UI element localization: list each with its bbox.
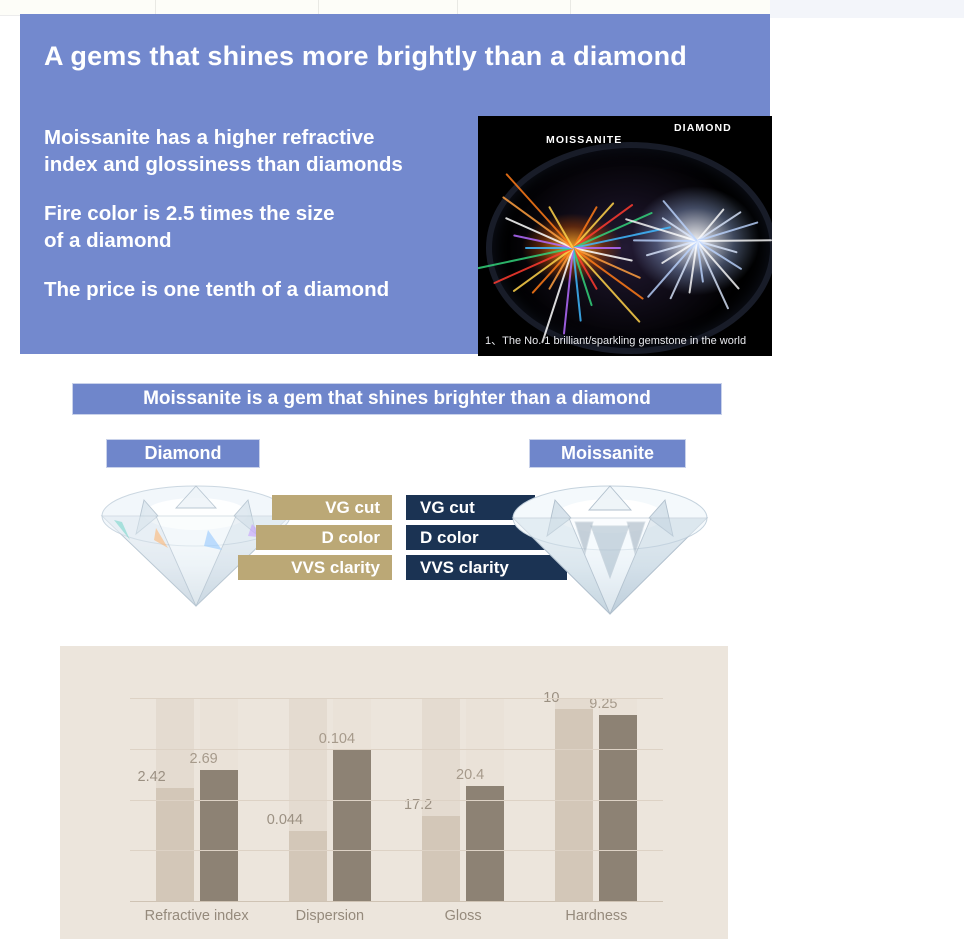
section-heading-bar: Moissanite is a gem that shines brighter…: [72, 383, 722, 415]
chart-gridline: [130, 901, 663, 902]
fire-comparison-photo: MOISSANITE DIAMOND 1、The No. 1 brilliant…: [478, 116, 772, 356]
chart-x-label: Hardness: [530, 904, 663, 932]
chart-bar-fill: [156, 788, 194, 901]
chart-bar-value-label: 2.69: [190, 751, 218, 767]
gem-header-diamond-label: Diamond: [144, 443, 221, 464]
chart-bar-fill: [289, 831, 327, 901]
chart-bar-value-label: 0.044: [267, 812, 303, 828]
photo-ray: [633, 239, 697, 242]
chart-gridline: [130, 850, 663, 851]
chart-gridline: [130, 698, 663, 699]
comparison-bar-chart: 2.422.690.0440.10417.220.4109.25 Refract…: [60, 646, 728, 939]
chart-bar-fill: [599, 715, 637, 901]
chart-plot-area: 2.422.690.0440.10417.220.4109.25: [130, 698, 663, 901]
hero-paragraph-3: The price is one tenth of a diamond: [44, 276, 464, 303]
moissanite-gem-image: [505, 476, 715, 616]
section-heading-text: Moissanite is a gem that shines brighter…: [143, 388, 651, 410]
chart-gridline: [130, 749, 663, 750]
chart-x-label: Gloss: [397, 904, 530, 932]
spec-diamond-clarity: VVS clarity: [238, 555, 392, 580]
chart-x-label: Dispersion: [263, 904, 396, 932]
chart-gridline: [130, 800, 663, 801]
chart-bar-value-label: 0.104: [319, 731, 355, 747]
gem-comparison-area: VG cut D color VVS clarity VG cut D colo…: [0, 470, 964, 630]
spec-diamond-cut: VG cut: [272, 495, 392, 520]
chart-x-axis-labels: Refractive indexDispersionGlossHardness: [130, 904, 663, 932]
hero-body: Moissanite has a higher refractive index…: [44, 124, 464, 303]
chart-bar-value-label: 20.4: [456, 767, 484, 783]
chart-bar-value-label: 2.42: [138, 769, 166, 785]
page-background-fill: [770, 0, 964, 18]
photo-label-moissanite: MOISSANITE: [546, 134, 622, 146]
chart-bar-fill: [333, 750, 371, 901]
chart-bar-fill: [466, 786, 504, 901]
hero-paragraph-2: Fire color is 2.5 times the size of a di…: [44, 200, 464, 254]
chart-bar-fill: [200, 770, 238, 901]
hero-banner: A gems that shines more brightly than a …: [20, 14, 770, 354]
photo-caption: 1、The No. 1 brilliant/sparkling gemstone…: [485, 332, 746, 348]
gem-header-moissanite: Moissanite: [529, 439, 686, 468]
photo-label-diamond: DIAMOND: [674, 122, 732, 134]
gem-header-diamond: Diamond: [106, 439, 260, 468]
chart-bar-fill: [555, 709, 593, 901]
gem-header-moissanite-label: Moissanite: [561, 443, 654, 464]
hero-paragraph-1: Moissanite has a higher refractive index…: [44, 124, 464, 178]
hero-title: A gems that shines more brightly than a …: [44, 41, 687, 72]
spec-diamond-color: D color: [256, 525, 392, 550]
chart-x-label: Refractive index: [130, 904, 263, 932]
chart-bar-fill: [422, 816, 460, 901]
